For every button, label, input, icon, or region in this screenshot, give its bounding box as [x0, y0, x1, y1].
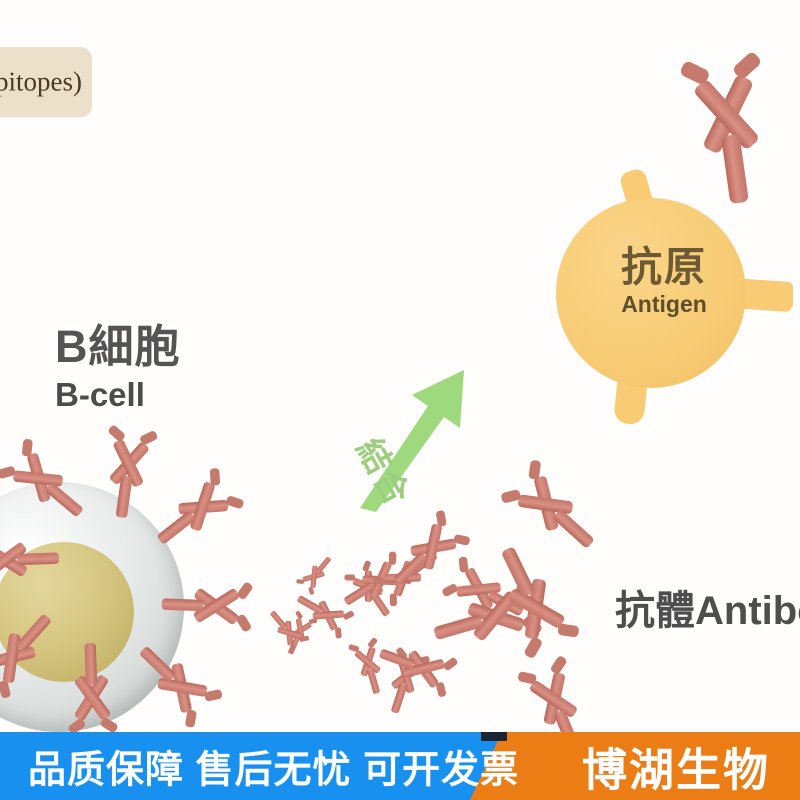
bcell-label-cn: B細胞	[55, 322, 181, 372]
epitope-right-tip	[771, 284, 793, 308]
banner-brand-name: 博湖生物	[582, 734, 770, 799]
antibody-label: 抗體Antibo	[615, 578, 800, 636]
bottom-banner: 品质保障 售后无忧 可开发票 博湖生物	[0, 732, 800, 800]
bcell-label-en: B-cell	[55, 376, 181, 414]
antigen-body	[556, 198, 746, 388]
antigen-group: 抗原 Antigen	[528, 168, 800, 448]
bcell-label: B細胞 B-cell	[55, 322, 181, 414]
epitopes-callout-box: Epitopes)	[0, 47, 92, 117]
banner-slogan: 品质保障 售后无忧 可开发票	[28, 739, 519, 794]
epitopes-callout-label: Epitopes)	[0, 67, 82, 98]
diagram-canvas: Epitopes) 抗原 Antigen	[0, 0, 800, 800]
